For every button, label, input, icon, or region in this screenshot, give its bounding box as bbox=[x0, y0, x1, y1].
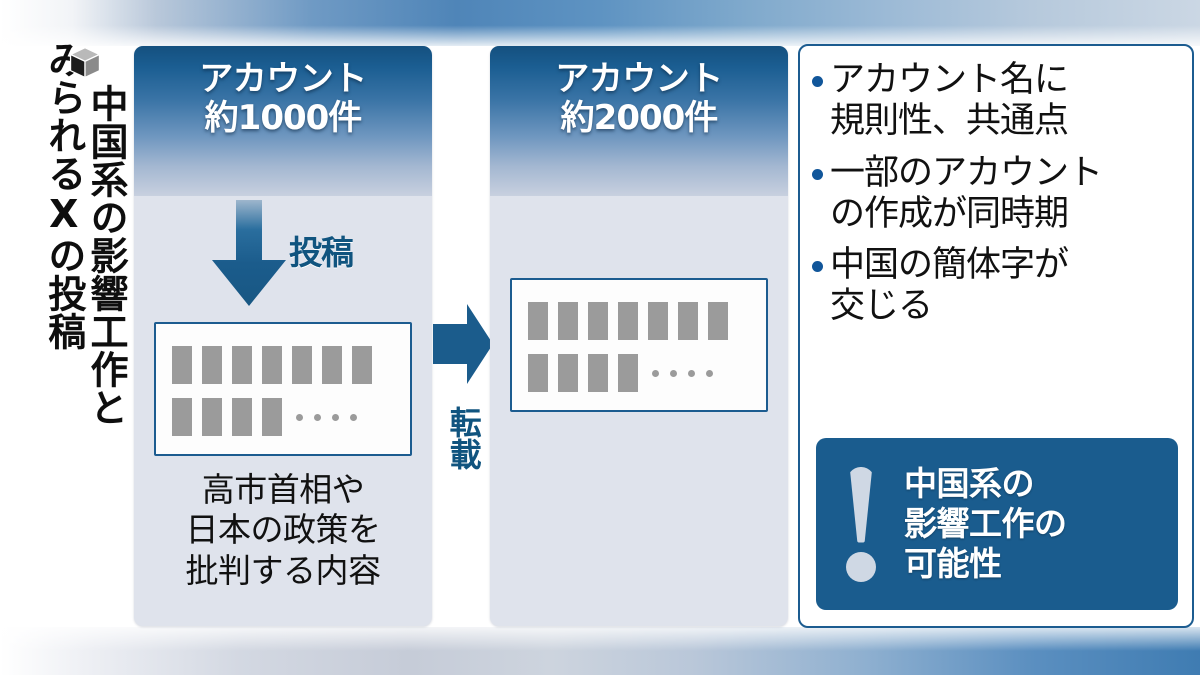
stage-2-blocks-row-2 bbox=[528, 354, 724, 392]
stage-1-blocks-row-2 bbox=[172, 398, 368, 436]
top-band-fade bbox=[0, 0, 1200, 46]
text-block bbox=[232, 346, 252, 384]
finding-bullet-3-text: 中国の簡体字が 交じる bbox=[830, 245, 1068, 328]
down-arrow-icon bbox=[206, 200, 292, 308]
finding-bullet-1-text: アカウント名に 規則性、共通点 bbox=[830, 60, 1068, 143]
text-block bbox=[172, 398, 192, 436]
bottom-band-fade bbox=[0, 627, 1200, 675]
text-block bbox=[528, 302, 548, 340]
text-block bbox=[202, 398, 222, 436]
text-block bbox=[322, 346, 342, 384]
text-block bbox=[648, 302, 668, 340]
text-block bbox=[618, 302, 638, 340]
finding-bullet-1: アカウント名に 規則性、共通点 bbox=[812, 60, 1182, 143]
conclusion-box: 中国系の 影響工作の 可能性 bbox=[816, 438, 1178, 610]
stage-1-caption-line-3: 批判する内容 bbox=[134, 551, 432, 591]
stage-1-header-line-1: アカウント bbox=[134, 60, 432, 99]
stage-2-header-line-1: アカウント bbox=[490, 60, 788, 99]
ellipsis-dots bbox=[652, 370, 724, 377]
infographic-canvas: 中国系の影響工作と みられるXの投稿 アカウント 約1000件 投稿 bbox=[0, 0, 1200, 675]
stage-1-caption-line-2: 日本の政策を bbox=[134, 510, 432, 550]
bullet-dot-icon bbox=[812, 169, 823, 180]
stage-2-header-line-2: 約2000件 bbox=[490, 99, 788, 138]
right-arrow-icon bbox=[433, 298, 495, 402]
stage-1-caption-line-1: 高市首相や bbox=[134, 470, 432, 510]
text-block bbox=[172, 346, 192, 384]
finding-bullet-2-text: 一部のアカウント の作成が同時期 bbox=[830, 153, 1102, 236]
bullet-dot-icon bbox=[812, 76, 823, 87]
stage-1-panel: アカウント 約1000件 投稿 bbox=[134, 46, 432, 626]
bullet-dot-icon bbox=[812, 261, 823, 272]
text-block bbox=[618, 354, 638, 392]
text-block bbox=[202, 346, 222, 384]
stage-1-arrow-row: 投稿 bbox=[134, 198, 432, 316]
text-block bbox=[588, 354, 608, 392]
finding-bullet-2: 一部のアカウント の作成が同時期 bbox=[812, 153, 1182, 236]
finding-bullet-3: 中国の簡体字が 交じる bbox=[812, 245, 1182, 328]
ellipsis-dots bbox=[296, 414, 368, 421]
stage-2-header: アカウント 約2000件 bbox=[490, 46, 788, 196]
exclamation-icon bbox=[830, 467, 892, 582]
stage-1-header: アカウント 約1000件 bbox=[134, 46, 432, 196]
text-block bbox=[678, 302, 698, 340]
stage-2-message-box bbox=[510, 278, 768, 412]
conclusion-line-2: 影響工作の bbox=[904, 504, 1067, 544]
text-block bbox=[528, 354, 548, 392]
post-arrow-label: 投稿 bbox=[289, 226, 353, 274]
text-block bbox=[708, 302, 728, 340]
headline-line-1: 中国系の影響工作と bbox=[86, 84, 126, 426]
text-block bbox=[292, 346, 312, 384]
headline-line-2: みられるXの投稿 bbox=[43, 40, 83, 350]
stage-1-message-box bbox=[154, 322, 412, 456]
text-block bbox=[262, 346, 282, 384]
headline: 中国系の影響工作と みられるXの投稿 bbox=[6, 38, 126, 628]
transfer-label: 転載 bbox=[447, 406, 480, 470]
conclusion-text: 中国系の 影響工作の 可能性 bbox=[904, 464, 1067, 585]
stage-2-blocks-row-1 bbox=[528, 302, 738, 340]
conclusion-line-3: 可能性 bbox=[904, 544, 1067, 584]
stage-1-caption: 高市首相や 日本の政策を 批判する内容 bbox=[134, 470, 432, 591]
text-block bbox=[262, 398, 282, 436]
text-block bbox=[558, 354, 578, 392]
findings-panel: アカウント名に 規則性、共通点 一部のアカウント の作成が同時期 中国の簡体字が… bbox=[798, 44, 1194, 628]
stage-1-blocks-row-1 bbox=[172, 346, 382, 384]
stage-1-header-line-2: 約1000件 bbox=[134, 99, 432, 138]
stage-2-panel: アカウント 約2000件 bbox=[490, 46, 788, 626]
text-block bbox=[558, 302, 578, 340]
text-block bbox=[232, 398, 252, 436]
cube-icon bbox=[68, 46, 102, 80]
transfer-connector: 転載 bbox=[433, 298, 495, 498]
text-block bbox=[352, 346, 372, 384]
conclusion-line-1: 中国系の bbox=[904, 464, 1067, 504]
text-block bbox=[588, 302, 608, 340]
